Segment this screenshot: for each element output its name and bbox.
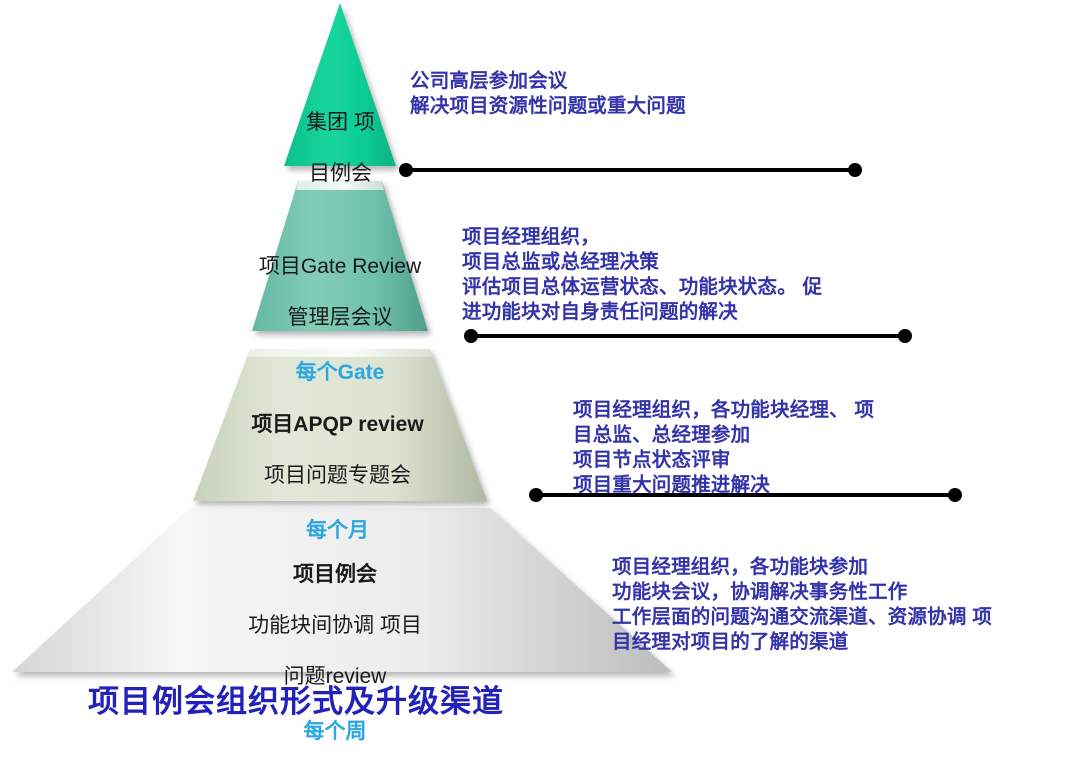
annotation-2-line-1: 项目经理组织， [462,226,600,248]
page-title: 项目例会组织形式及升级渠道 [88,676,504,721]
annotation-1-line-1: 公司高层参加会议 [410,70,568,92]
annotation-4-line-4: 目经理对项目的了解的渠道 [612,631,848,653]
connector-2 [464,329,912,343]
annotation-2-line-4: 进功能块对自身责任问题的解决 [462,301,738,323]
annotation-2-line-2: 项目总监或总经理决策 [462,251,659,273]
pyramid-level-apqp-review[interactable] [193,349,487,501]
annotation-gate-review: 项目经理组织， 项目总监或总经理决策 评估项目总体运营状态、功能块状态。 促 进… [462,200,1062,325]
slide-canvas: 集团 项 目例会 项目Gate Review 管理层会议 每个Gate 项目AP… [0,0,1080,736]
annotation-apqp-review: 项目经理组织，各功能块经理、 项 目总监、总经理参加 项目节点状态评审 项目重大… [573,373,1073,498]
annotation-4-line-1: 项目经理组织，各功能块参加 [612,556,868,578]
annotation-1-line-2: 解决项目资源性问题或重大问题 [410,95,686,117]
annotation-4-line-3: 工作层面的问题沟通交流渠道、资源协调 项 [612,606,992,628]
annotation-2-line-3: 评估项目总体运营状态、功能块状态。 促 [462,276,822,298]
annotation-3-line-1: 项目经理组织，各功能块经理、 项 [573,399,874,421]
pyramid-level-group-meeting[interactable] [284,3,396,166]
annotation-3-line-3: 项目节点状态评审 [573,449,731,471]
annotation-routine-meeting: 项目经理组织，各功能块参加 功能块会议，协调解决事务性工作 工作层面的问题沟通交… [612,530,1078,655]
annotation-4-line-2: 功能块会议，协调解决事务性工作 [612,581,908,603]
annotation-3-line-2: 目总监、总经理参加 [573,424,750,446]
pyramid-level-gate-review[interactable] [252,181,428,331]
pyramid-level-routine-meeting[interactable] [12,508,672,672]
annotation-group-meeting: 公司高层参加会议 解决项目资源性问题或重大问题 [410,44,1050,119]
connector-1 [399,163,862,177]
annotation-3-line-4: 项目重大问题推进解决 [573,474,770,496]
